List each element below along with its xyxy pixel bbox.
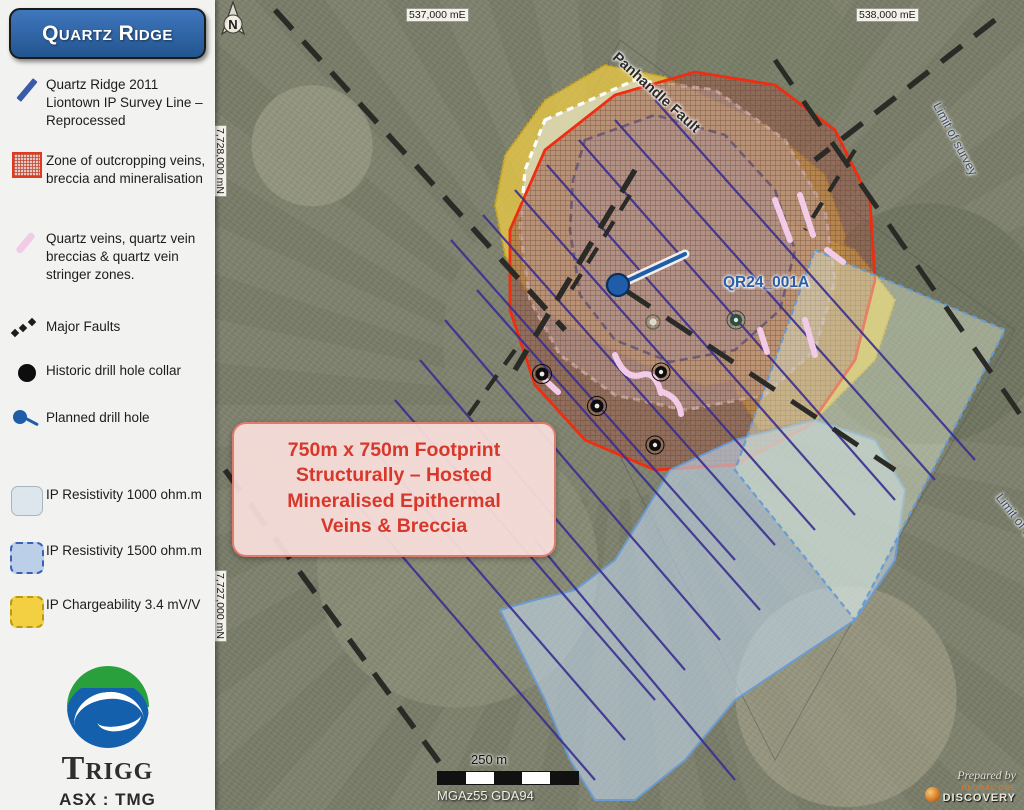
quartz-ridge-map-figure: Quartz Ridge Quartz Ridge 2011 Liontown … <box>0 0 1024 810</box>
company-name: Trigg <box>0 750 215 788</box>
coord-label-northing-bottom: 7,727,000 mN <box>215 570 227 642</box>
brand-text: DISCOVERY <box>943 792 1016 804</box>
trigg-logo-icon <box>67 666 149 748</box>
prepared-by-text: Prepared by <box>925 768 1016 783</box>
company-logo: Trigg ASX : TMG <box>0 666 215 810</box>
north-arrow-icon: N <box>215 0 251 38</box>
footprint-callout: 750m x 750m Footprint Structurally – Hos… <box>232 422 556 557</box>
scale-length-label: 250 m <box>471 752 507 767</box>
red-hatched-square-swatch <box>10 152 44 178</box>
legend-item-ip-chargeability: IP Chargeability 3.4 mV/V <box>10 596 210 628</box>
callout-line-4: Veins & Breccia <box>244 514 544 539</box>
callout-line-3: Mineralised Epithermal <box>244 489 544 514</box>
legend-item-outcrop-zone: Zone of outcropping veins, breccia and m… <box>10 152 210 188</box>
legend-item-major-faults: Major Faults <box>10 318 210 336</box>
svg-text:N: N <box>228 17 237 32</box>
legend-label: IP Chargeability 3.4 mV/V <box>44 596 200 614</box>
diagonal-line-swatch <box>10 76 44 102</box>
map-canvas[interactable]: 537,000 mE 538,000 mE 7,728,000 mN 7,727… <box>215 0 1024 810</box>
pink-vein-swatch <box>10 230 44 256</box>
legend-label: Major Faults <box>44 318 120 336</box>
legend-item-ip-resistivity-1000: IP Resistivity 1000 ohm.m <box>10 486 210 516</box>
planned-drill-hole-label: QR24_001A <box>723 274 809 292</box>
legend-label: IP Resistivity 1000 ohm.m <box>44 486 202 504</box>
pale-blue-box-swatch <box>10 486 44 516</box>
coord-label-easting-right: 538,000 mE <box>856 8 919 22</box>
legend-label: Planned drill hole <box>44 409 150 427</box>
legend-label: Zone of outcropping veins, breccia and m… <box>44 152 210 188</box>
datum-label: MGAz55 GDA94 <box>437 788 534 803</box>
legend-item-quartz-veins: Quartz veins, quartz vein breccias & qua… <box>10 230 210 283</box>
legend-item-planned-drill-hole: Planned drill hole <box>10 408 210 428</box>
scale-bar <box>437 771 579 785</box>
legend-label: Quartz veins, quartz vein breccias & qua… <box>44 230 210 283</box>
legend-item-ip-resistivity-1500: IP Resistivity 1500 ohm.m <box>10 542 210 574</box>
prepared-by-credit: Prepared by GLOBAL ORE DISCOVERY <box>925 768 1016 804</box>
legend-label: IP Resistivity 1500 ohm.m <box>44 542 202 560</box>
coord-label-easting-left: 537,000 mE <box>406 8 469 22</box>
callout-line-1: 750m x 750m Footprint <box>244 438 544 463</box>
brand-small-text: GLOBAL ORE <box>943 784 1016 792</box>
yellow-dashed-box-swatch <box>10 596 44 628</box>
blue-drill-hole-swatch <box>10 408 44 428</box>
legend-sidebar: Quartz Ridge Quartz Ridge 2011 Liontown … <box>0 0 215 810</box>
company-ticker: ASX : TMG <box>0 790 215 810</box>
legend-label: Quartz Ridge 2011 Liontown IP Survey Lin… <box>44 76 210 129</box>
callout-line-2: Structurally – Hosted <box>244 463 544 488</box>
legend-label: Historic drill hole collar <box>44 362 181 380</box>
page-title: Quartz Ridge <box>9 8 206 59</box>
coord-label-northing-top: 7,728,000 mN <box>215 125 227 197</box>
legend-item-historic-drill-hole: Historic drill hole collar <box>10 362 210 382</box>
map-overlay-layers <box>215 0 1024 810</box>
black-dot-swatch <box>10 362 44 382</box>
page-title-text: Quartz Ridge <box>42 22 173 46</box>
dash-dot-line-swatch <box>10 318 44 336</box>
blue-dashed-box-swatch <box>10 542 44 574</box>
legend-item-ip-survey-line: Quartz Ridge 2011 Liontown IP Survey Lin… <box>10 76 210 129</box>
global-ore-discovery-logo-icon <box>925 787 940 802</box>
